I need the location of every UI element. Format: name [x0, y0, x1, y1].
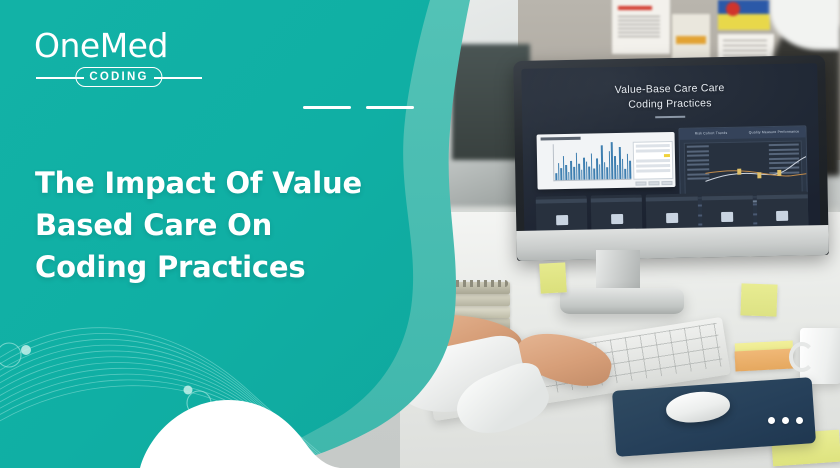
brand-content: OneMed CODING The Impact Of Value Based … — [0, 0, 430, 468]
banner-image: Value-Base Care Care Coding Practices — [0, 0, 840, 468]
logo[interactable]: OneMed CODING — [34, 28, 204, 87]
logo-pill-label: CODING — [75, 67, 162, 87]
brand-panel: OneMed CODING The Impact Of Value Based … — [0, 0, 840, 468]
logo-wordmark: OneMed — [34, 28, 204, 64]
decor-dash — [366, 106, 414, 109]
page-title: The Impact Of Value Based Care On Coding… — [35, 162, 425, 288]
logo-subline: CODING — [34, 67, 204, 87]
headline-line-3: Coding Practices — [35, 246, 425, 288]
decor-dash — [303, 106, 351, 109]
decor-dashes — [303, 106, 414, 109]
headline-line-2: Based Care On — [35, 204, 425, 246]
headline-line-1: The Impact Of Value — [35, 162, 425, 204]
